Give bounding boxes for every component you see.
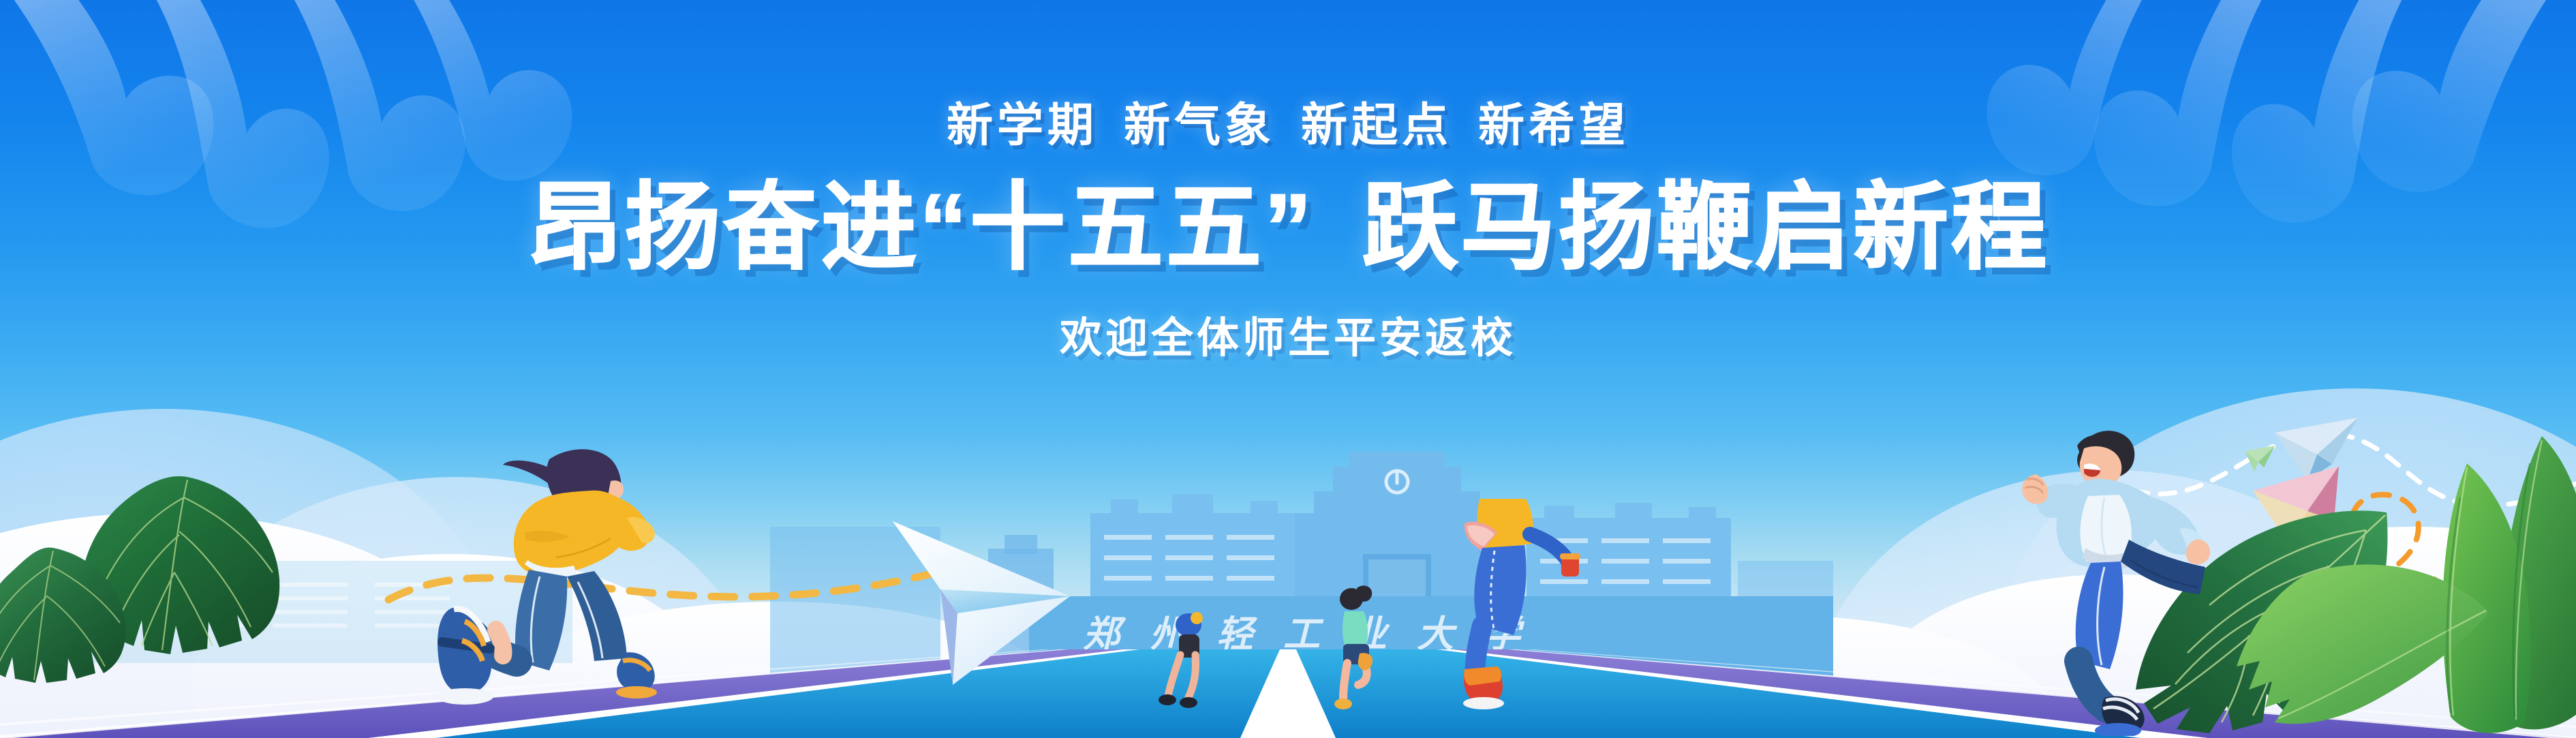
campus-welcome-banner: 郑州轻工业大学 — [0, 0, 2576, 738]
slogan-segment-1: 新学期 — [947, 99, 1098, 151]
slogan-segment-3: 新起点 — [1301, 99, 1452, 151]
main-headline-line: 昂扬奋进“十五五”跃马扬鞭启新程 — [0, 172, 2576, 283]
runner-girl-left — [423, 436, 695, 736]
top-slogan-line: 新学期新气象新起点新希望 — [0, 87, 2576, 155]
slogan-segment-2: 新气象 — [1124, 99, 1275, 151]
welcome-subtitle: 欢迎全体师生平安返校 — [0, 303, 2576, 365]
runner-boy-right — [2004, 416, 2235, 736]
runner-mini-green — [1319, 583, 1394, 712]
tropical-leaf-cluster-icon — [2222, 436, 2576, 738]
main-headline-right: 跃马扬鞭启新程 — [1362, 174, 2049, 281]
main-headline-left: 昂扬奋进“十五五” — [527, 174, 1315, 281]
headline-text-block: 新学期新气象新起点新希望 昂扬奋进“十五五”跃马扬鞭启新程 欢迎全体师生平安返校 — [0, 0, 2576, 365]
paper-plane-large-white-icon — [886, 514, 1090, 692]
monstera-leaf-small-icon — [0, 544, 129, 687]
runner-mini-yellow — [1435, 499, 1584, 710]
slogan-segment-4: 新希望 — [1478, 99, 1629, 151]
runner-mini-blue — [1159, 610, 1220, 712]
